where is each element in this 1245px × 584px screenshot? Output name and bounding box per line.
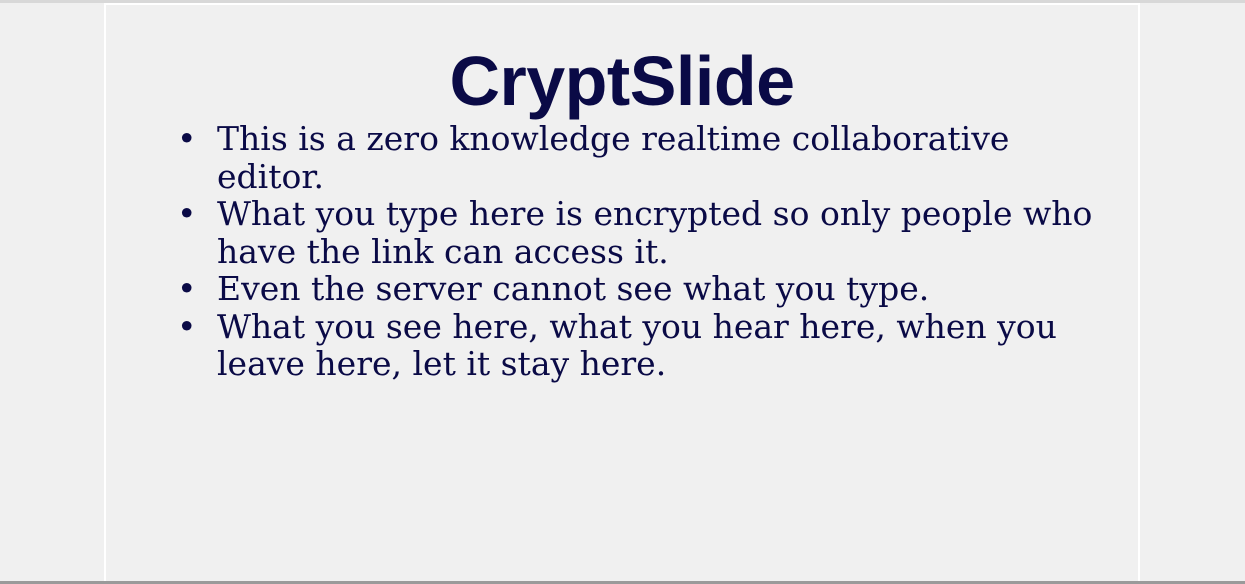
- bullet-item-text[interactable]: Even the server cannot see what you type…: [217, 270, 1108, 308]
- slide-bullet-list[interactable]: • This is a zero knowledge realtime coll…: [148, 120, 1108, 383]
- bullet-point-icon: •: [177, 120, 197, 158]
- slide-title[interactable]: CryptSlide: [106, 43, 1138, 119]
- bullet-item[interactable]: • This is a zero knowledge realtime coll…: [148, 120, 1108, 195]
- bullet-item-text[interactable]: What you see here, what you hear here, w…: [217, 308, 1108, 383]
- bullet-point-icon: •: [177, 270, 197, 308]
- bullet-point-icon: •: [177, 308, 197, 346]
- bullet-item-text[interactable]: What you type here is encrypted so only …: [217, 195, 1108, 270]
- bullet-item[interactable]: • What you see here, what you hear here,…: [148, 308, 1108, 383]
- bullet-item[interactable]: • Even the server cannot see what you ty…: [148, 270, 1108, 308]
- slide-canvas[interactable]: CryptSlide • This is a zero knowledge re…: [104, 3, 1140, 581]
- bullet-item-text[interactable]: This is a zero knowledge realtime collab…: [217, 120, 1108, 195]
- bullet-point-icon: •: [177, 195, 197, 233]
- bullet-item[interactable]: • What you type here is encrypted so onl…: [148, 195, 1108, 270]
